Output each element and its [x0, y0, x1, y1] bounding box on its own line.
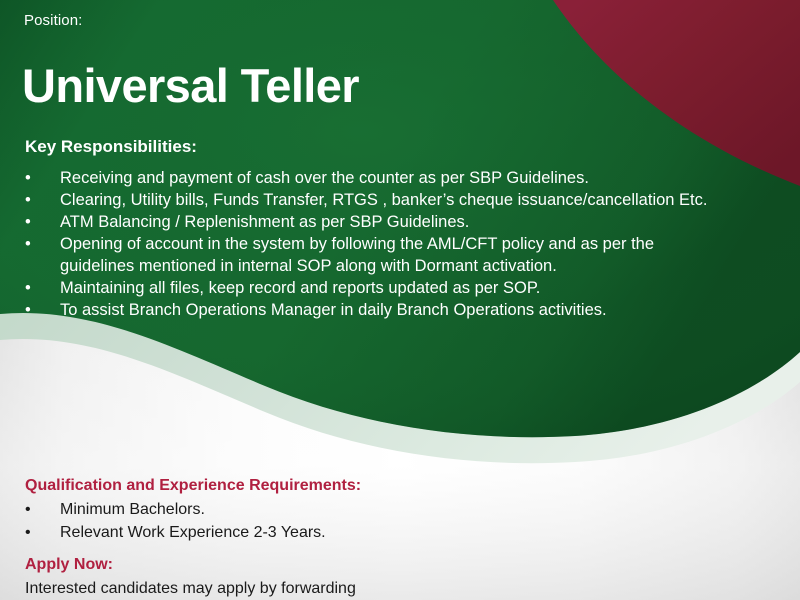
job-posting-slide: Position: Universal Teller Key Responsib…	[0, 0, 800, 600]
responsibilities-list: • Receiving and payment of cash over the…	[25, 168, 725, 322]
list-item-text: ATM Balancing / Replenishment as per SBP…	[60, 213, 469, 231]
list-item-text: To assist Branch Operations Manager in d…	[60, 301, 607, 319]
list-item-text: Relevant Work Experience 2-3 Years.	[60, 524, 326, 541]
slide-content: Position: Universal Teller Key Responsib…	[0, 0, 800, 600]
bullet-icon: •	[25, 234, 39, 256]
bullet-icon: •	[25, 300, 39, 322]
apply-now-heading: Apply Now:	[25, 556, 113, 574]
bullet-icon: •	[25, 498, 31, 521]
list-item: • To assist Branch Operations Manager in…	[25, 300, 725, 322]
list-item-text: Opening of account in the system by foll…	[60, 235, 654, 275]
list-item: • Receiving and payment of cash over the…	[25, 168, 725, 190]
list-item: • Opening of account in the system by fo…	[25, 234, 725, 277]
bullet-icon: •	[25, 521, 31, 544]
bullet-icon: •	[25, 278, 39, 300]
qualification-heading: Qualification and Experience Requirement…	[25, 477, 361, 495]
list-item: • Clearing, Utility bills, Funds Transfe…	[25, 190, 725, 212]
apply-now-text: Interested candidates may apply by forwa…	[25, 578, 356, 599]
bullet-icon: •	[25, 168, 39, 190]
bullet-icon: •	[25, 190, 39, 212]
list-item: • Relevant Work Experience 2-3 Years.	[25, 521, 625, 544]
bullet-icon: •	[25, 212, 39, 234]
qualification-list: • Minimum Bachelors. • Relevant Work Exp…	[25, 498, 625, 544]
position-label: Position:	[24, 12, 82, 29]
responsibilities-heading: Key Responsibilities:	[25, 137, 197, 157]
list-item-text: Maintaining all files, keep record and r…	[60, 279, 540, 297]
list-item-text: Minimum Bachelors.	[60, 501, 205, 518]
list-item-text: Clearing, Utility bills, Funds Transfer,…	[60, 191, 707, 209]
page-title: Universal Teller	[22, 61, 359, 110]
list-item: • Maintaining all files, keep record and…	[25, 278, 725, 300]
list-item: • Minimum Bachelors.	[25, 498, 625, 521]
list-item: • ATM Balancing / Replenishment as per S…	[25, 212, 725, 234]
list-item-text: Receiving and payment of cash over the c…	[60, 169, 589, 187]
